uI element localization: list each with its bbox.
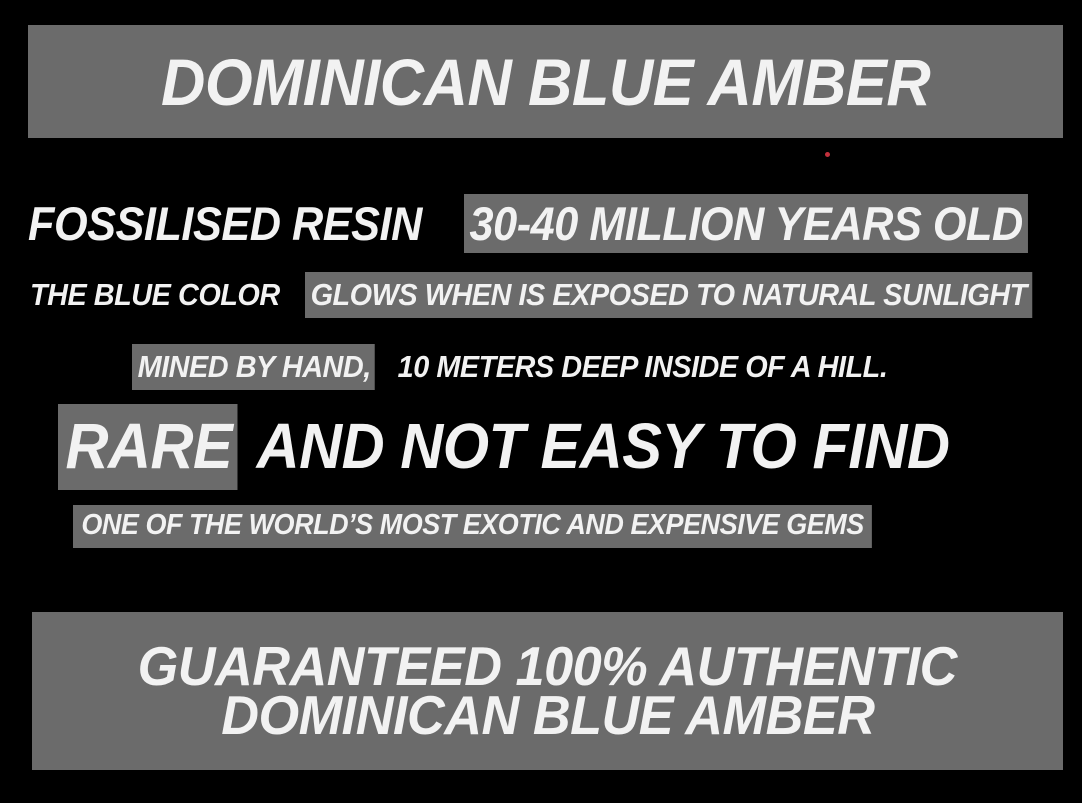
poster-root: DOMINICAN BLUE AMBER FOSSILISED RESIN30-…: [0, 0, 1082, 803]
line-glows: THE BLUE COLORGLOWS WHEN IS EXPOSED TO N…: [0, 272, 1082, 318]
line-rare: RAREAND NOT EASY TO FIND: [0, 404, 1082, 490]
guarantee-banner: GUARANTEED 100% AUTHENTIC DOMINICAN BLUE…: [32, 612, 1063, 770]
glows-plain-text: THE BLUE COLOR: [30, 272, 285, 318]
red-dot-marker: [825, 152, 830, 157]
line-mined: MINED BY HAND,10 METERS DEEP INSIDE OF A…: [0, 344, 1082, 390]
line-gems: ONE OF THE WORLD’S MOST EXOTIC AND EXPEN…: [0, 505, 1082, 548]
top-headline-banner: DOMINICAN BLUE AMBER: [28, 25, 1063, 138]
gems-highlight-text: ONE OF THE WORLD’S MOST EXOTIC AND EXPEN…: [73, 505, 872, 548]
fossilised-plain-text: FOSSILISED RESIN: [28, 194, 429, 253]
mined-plain-text: 10 METERS DEEP INSIDE OF A HILL.: [393, 344, 893, 390]
guarantee-line-2: DOMINICAN BLUE AMBER: [221, 688, 874, 743]
line-fossilised: FOSSILISED RESIN30-40 MILLION YEARS OLD: [0, 194, 1082, 253]
rare-plain-text: AND NOT EASY TO FIND: [251, 404, 955, 490]
mined-highlight-text: MINED BY HAND,: [132, 344, 375, 390]
rare-highlight-text: RARE: [58, 404, 238, 490]
glows-highlight-text: GLOWS WHEN IS EXPOSED TO NATURAL SUNLIGH…: [305, 272, 1032, 318]
headline-text: DOMINICAN BLUE AMBER: [161, 49, 930, 115]
fossilised-highlight-text: 30-40 MILLION YEARS OLD: [464, 194, 1028, 253]
